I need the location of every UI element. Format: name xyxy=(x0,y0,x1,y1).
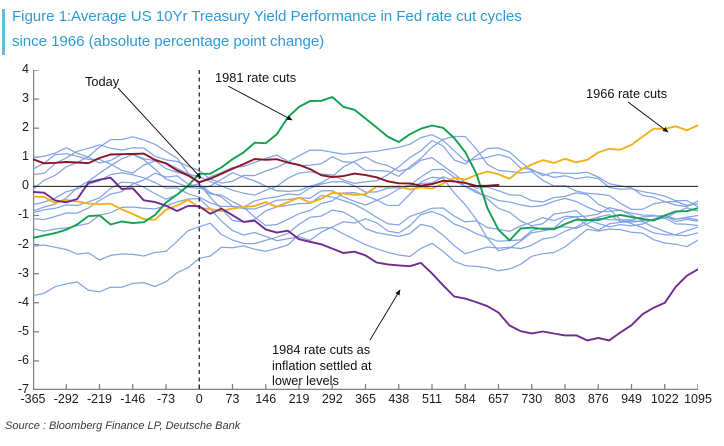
x-axis-tick-label: 949 xyxy=(621,392,642,406)
y-axis-tick-label: -1 xyxy=(7,207,29,221)
y-axis-tick-label: 0 xyxy=(7,178,29,192)
annotation-1966-rate-cuts: 1966 rate cuts xyxy=(586,86,667,102)
y-axis-tick-label: 2 xyxy=(7,120,29,134)
x-axis-tick-label: 438 xyxy=(388,392,409,406)
x-axis-tick-label: 876 xyxy=(588,392,609,406)
x-axis-tick-label: -73 xyxy=(157,392,175,406)
x-axis-tick-label: 146 xyxy=(255,392,276,406)
x-axis-tick-label: 73 xyxy=(226,392,240,406)
figure-title-block: Figure 1:Average US 10Yr Treasury Yield … xyxy=(0,4,700,58)
x-axis-tick-label: 730 xyxy=(521,392,542,406)
y-axis-labels: 43210-1-2-3-4-5-6-7 xyxy=(4,70,29,390)
series-line xyxy=(33,228,698,296)
series-line xyxy=(33,141,698,207)
y-axis-tick-label: 3 xyxy=(7,91,29,105)
y-axis-tick-label: 1 xyxy=(7,149,29,163)
x-axis-tick-label: 365 xyxy=(355,392,376,406)
x-axis-tick-label: 1095 xyxy=(684,392,712,406)
annotation-1981-rate-cuts: 1981 rate cuts xyxy=(215,70,296,86)
page-title: Figure 1:Average US 10Yr Treasury Yield … xyxy=(12,4,700,54)
y-axis-tick-label: -3 xyxy=(7,266,29,280)
y-axis-tick-label: -5 xyxy=(7,324,29,338)
annotation-today: Today xyxy=(85,74,119,90)
x-axis-tick-label: 292 xyxy=(322,392,343,406)
series-group xyxy=(33,97,698,340)
series-line xyxy=(33,178,698,341)
x-axis-tick-label: 657 xyxy=(488,392,509,406)
figure-container: Figure 1:Average US 10Yr Treasury Yield … xyxy=(0,0,724,446)
title-accent-bar xyxy=(2,9,5,55)
annotation-1984-rate-cuts: 1984 rate cuts as inflation settled at l… xyxy=(272,342,372,389)
y-axis-tick-label: -6 xyxy=(7,353,29,367)
x-axis-tick-label: -365 xyxy=(20,392,45,406)
x-axis-tick-label: 803 xyxy=(555,392,576,406)
y-axis-tick-label: -2 xyxy=(7,237,29,251)
x-axis-labels: -365-292-219-146-73073146219292365438511… xyxy=(33,392,701,408)
x-axis-tick-label: 0 xyxy=(196,392,203,406)
source-note: Source : Bloomberg Finance LP, Deutsche … xyxy=(5,420,240,432)
x-axis-tick-label: 511 xyxy=(422,392,442,406)
y-axis-tick-label: 4 xyxy=(7,62,29,76)
x-axis-tick-label: 219 xyxy=(289,392,310,406)
x-axis-tick-label: 1022 xyxy=(651,392,679,406)
x-axis-tick-label: -146 xyxy=(120,392,145,406)
y-axis-tick-label: -4 xyxy=(7,295,29,309)
x-axis-tick-label: -219 xyxy=(87,392,112,406)
x-axis-tick-label: -292 xyxy=(54,392,79,406)
x-axis-tick-label: 584 xyxy=(455,392,476,406)
